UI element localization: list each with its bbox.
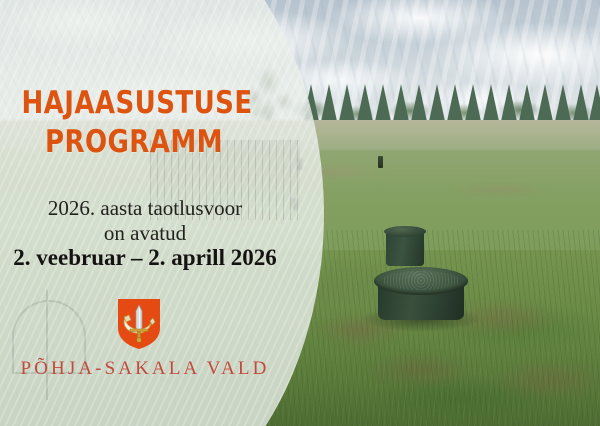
subtitle-line-1: 2026. aasta taotlusvoor — [48, 196, 242, 220]
septic-tank-large-lid — [374, 267, 468, 295]
coat-of-arms — [117, 298, 161, 350]
page-title: HAJAASUSTUSE PROGRAMM — [21, 84, 246, 162]
marker-post — [378, 156, 383, 168]
poster-content: HAJAASUSTUSE PROGRAMM 2026. aasta taotlu… — [0, 0, 300, 426]
title-line-2: PROGRAMM — [21, 123, 246, 162]
conifer-treeline — [300, 78, 600, 126]
septic-tank-small-lid — [384, 226, 426, 237]
subtitle-line-2: on avatud — [104, 221, 186, 245]
subtitle: 2026. aasta taotlusvoor on avatud — [0, 196, 290, 246]
title-line-1: HAJAASUSTUSE — [21, 85, 252, 121]
application-period: 2. veebruar – 2. aprill 2026 — [0, 244, 290, 271]
municipality-name: PÕHJA-SAKALA VALD — [0, 358, 290, 380]
poster: HAJAASUSTUSE PROGRAMM 2026. aasta taotlu… — [0, 0, 600, 426]
shield-icon — [117, 298, 161, 350]
